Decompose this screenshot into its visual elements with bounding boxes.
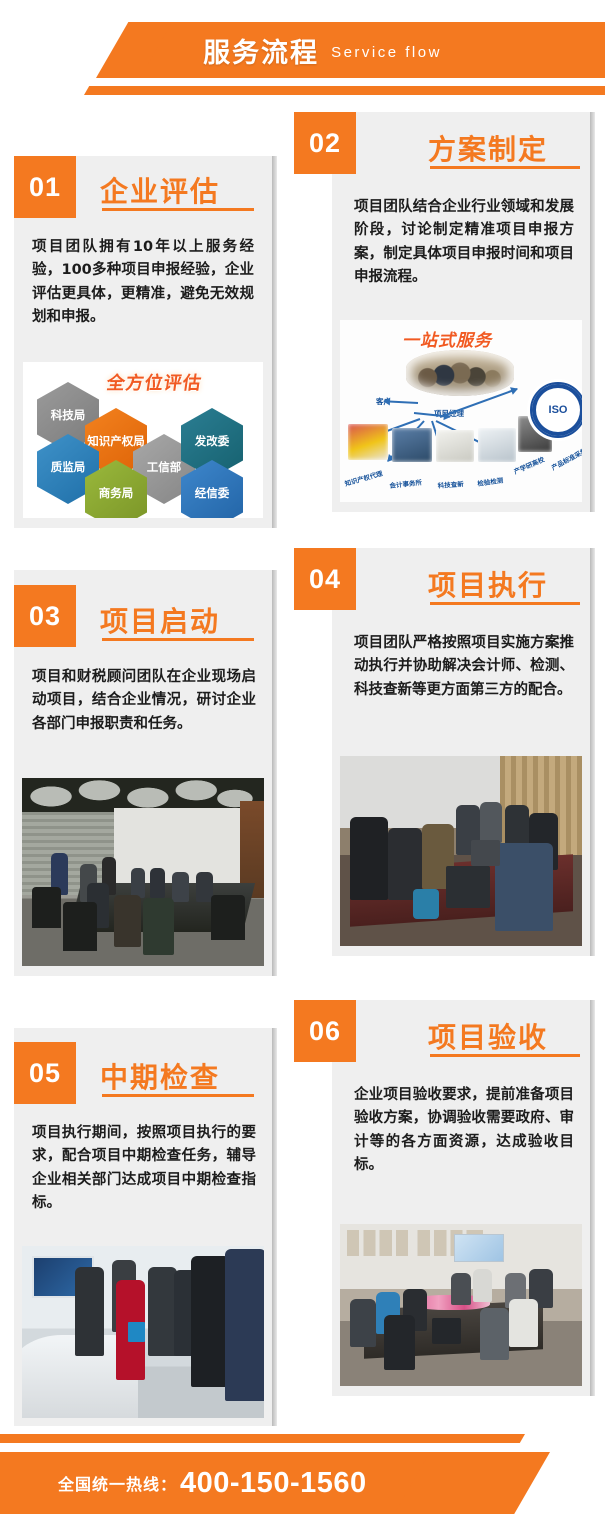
title-underline (102, 1094, 254, 1097)
onestop-node-label-5: 产品标准采集 (549, 445, 582, 472)
photo-chair (211, 895, 245, 940)
page-header: 服务流程 Service flow (0, 0, 605, 106)
hexagon-assessment-graphic: 全方位评估 科技局 知识产权局 质监局 工信部 商务局 发改委 经信委 (23, 362, 263, 518)
step-body-03: 项目和财税顾问团队在企业现场启动项目，结合企业情况，研讨企业各部门申报职责和任务… (32, 666, 256, 736)
step-title-06: 项目验收 (428, 1016, 548, 1056)
title-underline (102, 638, 254, 641)
photo-laptop (432, 1318, 461, 1344)
photo-person (451, 1273, 470, 1305)
step-number-badge-03: 03 (14, 585, 76, 647)
step-card-04[interactable]: 04 项目执行 项目团队严格按照项目实施方案推动执行并协助解决会计师、检测、科技… (332, 548, 590, 956)
onestop-node-label-4: 产学研高校 (512, 454, 546, 476)
card-shadow (590, 548, 595, 956)
onestop-node-accounting (392, 428, 432, 462)
onestop-node-label-3: 检验检测 (477, 474, 504, 488)
footer-top-stripe (0, 1434, 470, 1443)
service-flow-infographic: 服务流程 Service flow 01 企业评估 项目团队拥有10年以上服务经… (0, 0, 605, 1538)
step-number-badge-04: 04 (294, 548, 356, 610)
step-number-badge-06: 06 (294, 1000, 356, 1062)
onestop-title: 一站式服务 (402, 326, 492, 351)
card-shadow (272, 156, 277, 528)
step-body-06: 企业项目验收要求，提前准备项目验收方案，协调验收需要政府、审计等的各方面资源，达… (354, 1084, 574, 1178)
page-title: 服务流程 (203, 31, 319, 70)
card-shadow (272, 570, 277, 976)
photo-bag (413, 889, 440, 919)
photo-conference-room (22, 778, 264, 966)
page-subtitle: Service flow (331, 44, 442, 61)
step-title-05: 中期检查 (100, 1056, 220, 1096)
photo-person (148, 1267, 177, 1356)
step-number-badge-02: 02 (294, 112, 356, 174)
step-card-06[interactable]: 06 项目验收 企业项目验收要求，提前准备项目验收方案，协调验收需要政府、审计等… (332, 1000, 590, 1396)
onestop-node-search (436, 430, 474, 462)
header-accent-left-thin (84, 86, 137, 95)
footer-hotline-group: 全国统一热线： 400-150-1560 (0, 1452, 450, 1514)
photo-person (509, 1299, 538, 1348)
photo-person (225, 1249, 264, 1400)
card-shadow (590, 112, 595, 512)
photo-person (384, 1315, 415, 1370)
step-body-01: 项目团队拥有10年以上服务经验，100多种项目申报经验，企业评估更具体，更精准，… (32, 236, 254, 330)
photo-laptop (471, 840, 500, 867)
header-title-group: 服务流程 Service flow (0, 22, 605, 78)
photo-person (473, 1269, 492, 1301)
step-title-03: 项目启动 (100, 600, 220, 640)
title-underline (430, 602, 580, 605)
step-body-02: 项目团队结合企业行业领域和发展阶段，讨论制定精准项目申报方案，制定具体项目申报时… (354, 196, 574, 290)
photo-person (495, 843, 553, 930)
photo-showroom-tour (22, 1246, 264, 1418)
step-title-01: 企业评估 (100, 170, 220, 210)
onestop-node-label-0: 知识产权代理 (343, 468, 383, 488)
photo-person (480, 1308, 509, 1360)
onestop-node-ip (348, 424, 388, 460)
step-body-05: 项目执行期间，按照项目执行的要求，配合项目中期检查任务，辅导企业相关部门达成项目… (32, 1122, 256, 1216)
step-card-03[interactable]: 03 项目启动 项目和财税顾问团队在企业现场启动项目，结合企业情况，研讨企业各部… (14, 570, 272, 976)
onestop-center-photo (406, 350, 514, 396)
step-title-02: 方案制定 (428, 128, 548, 168)
step-title-04: 项目执行 (428, 564, 548, 604)
photo-person (480, 802, 502, 844)
photo-laptop-meeting (340, 756, 582, 946)
card-shadow (272, 1028, 277, 1426)
step-number-badge-01: 01 (14, 156, 76, 218)
hotline-number[interactable]: 400-150-1560 (180, 1467, 367, 1500)
header-banner-underline (130, 86, 605, 95)
card-shadow (590, 1000, 595, 1396)
photo-chair (32, 887, 61, 928)
onestop-node-label-2: 科技查新 (437, 478, 464, 490)
hotline-label: 全国统一热线： (58, 1471, 177, 1495)
step-card-02[interactable]: 02 方案制定 项目团队结合企业行业领域和发展阶段，讨论制定精准项目申报方案，制… (332, 112, 590, 512)
footer-top-stripe-skew (450, 1434, 525, 1443)
photo-person (131, 868, 146, 898)
photo-person (172, 872, 189, 902)
title-underline (102, 208, 254, 211)
step-card-05[interactable]: 05 中期检查 项目执行期间，按照项目执行的要求，配合项目中期检查任务，辅导企业… (14, 1028, 272, 1426)
step-body-04: 项目团队严格按照项目实施方案推动执行并协助解决会计师、检测、科技查新等更方面第三… (354, 632, 574, 702)
photo-big-conference (340, 1224, 582, 1386)
onestop-arrow (384, 400, 418, 404)
onestop-node-label-1: 会计事务所 (389, 477, 422, 490)
hex-graphic-title: 全方位评估 (105, 369, 204, 395)
photo-person (114, 895, 141, 948)
onestop-seal-icon: ISO (530, 382, 582, 438)
photo-person (350, 817, 389, 901)
title-underline (430, 1054, 580, 1057)
page-footer: 全国统一热线： 400-150-1560 (0, 1420, 605, 1538)
photo-person (75, 1267, 104, 1356)
photo-laptop (446, 866, 490, 908)
one-stop-service-graphic: 一站式服务 客户 项目经理 ISO 知识产权代理 会计事务所 科技查新 检验检测… (340, 320, 582, 502)
onestop-node-testing (478, 428, 516, 462)
step-number-badge-05: 05 (14, 1042, 76, 1104)
photo-projector-screen (454, 1234, 504, 1262)
photo-person (143, 898, 174, 954)
photo-person (150, 868, 165, 898)
photo-brochure (128, 1322, 145, 1343)
photo-chair (63, 902, 97, 951)
photo-person (350, 1299, 377, 1348)
title-underline (430, 166, 580, 169)
step-card-01[interactable]: 01 企业评估 项目团队拥有10年以上服务经验，100多种项目申报经验，企业评估… (14, 156, 272, 528)
